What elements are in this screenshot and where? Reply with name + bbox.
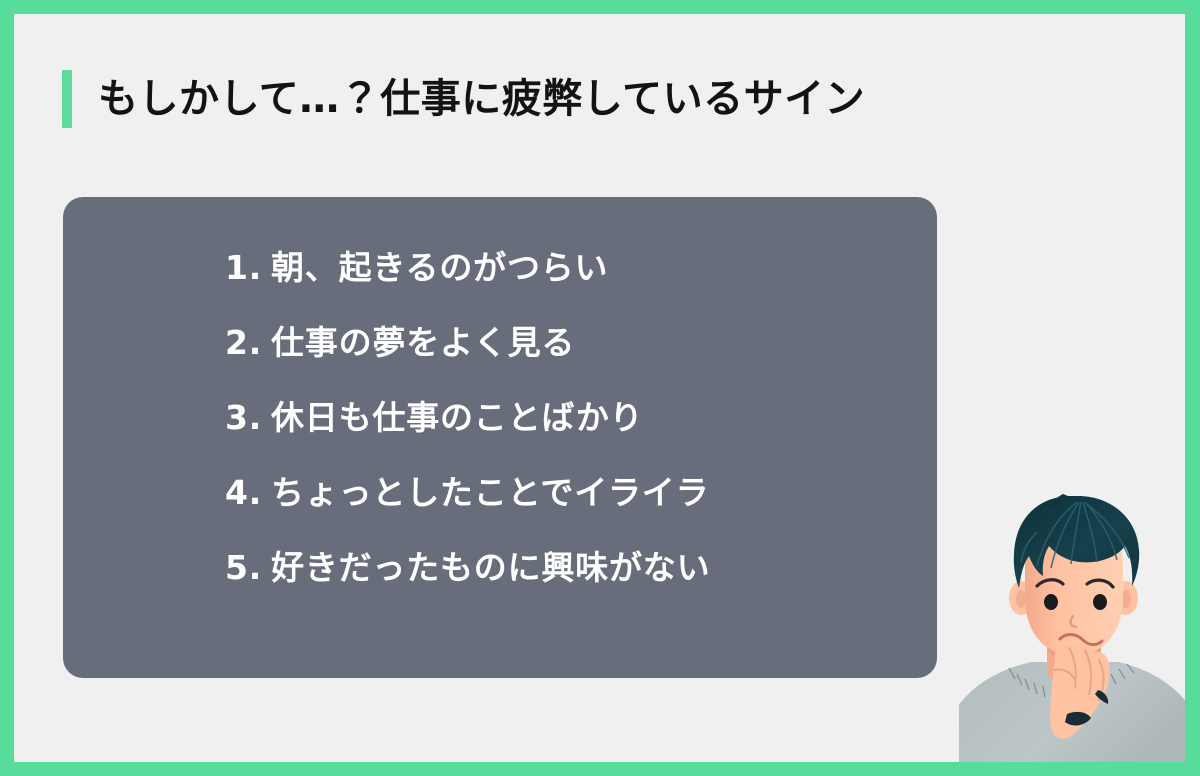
list-item: 3. 休日も仕事のことばかり [225,391,917,466]
ear-right [1114,581,1138,615]
thinking-man-illustration [959,492,1185,762]
list-item: 5. 好きだったものに興味がない [225,541,917,616]
title-accent-bar [62,70,72,128]
eye-right [1093,594,1107,610]
collar-stitches [1009,664,1134,700]
ear-right-inner [1121,590,1131,608]
neck-shadow [1047,620,1101,661]
sleeve-accent-lower [1065,712,1091,726]
sleeve-accent-upper [1095,690,1108,704]
thumb-line [1055,669,1075,680]
neck-shape [1047,620,1101,685]
list-item-number: 5. [225,548,271,587]
list-item-label: 仕事の夢をよく見る [271,316,575,364]
list-item-label: 好きだったものに興味がない [271,541,710,589]
signs-list: 1. 朝、起きるのがつらい 2. 仕事の夢をよく見る 3. 休日も仕事のことばか… [225,241,917,658]
list-item: 1. 朝、起きるのがつらい [225,241,917,316]
list-item-label: 朝、起きるのがつらい [271,241,608,289]
nose [1071,616,1076,627]
ear-left [1009,581,1033,615]
slide-frame: もしかして…？仕事に疲弊しているサイン 1. 朝、起きるのがつらい 2. 仕事の… [0,0,1200,776]
list-item-number: 4. [225,473,271,512]
list-item-label: ちょっとしたことでイライラ [271,466,709,514]
list-item-label: 休日も仕事のことばかり [271,391,643,439]
sweater-shape [959,662,1185,762]
list-item: 2. 仕事の夢をよく見る [225,316,917,391]
list-item: 4. ちょっとしたことでイライラ [225,466,917,541]
slide-header: もしかして…？仕事に疲弊しているサイン [62,68,865,130]
list-item-number: 1. [225,248,271,287]
mouth-frown [1060,635,1102,645]
face-shape [1025,508,1123,656]
eyebrow-right [1087,580,1113,587]
page-title: もしかして…？仕事に疲弊しているサイン [98,79,865,119]
list-item-number: 2. [225,323,271,362]
hair-shape [1014,496,1139,588]
hand-shape [1050,644,1109,739]
list-item-number: 3. [225,398,271,437]
slide-canvas: もしかして…？仕事に疲弊しているサイン 1. 朝、起きるのがつらい 2. 仕事の… [14,14,1185,762]
signs-card: 1. 朝、起きるのがつらい 2. 仕事の夢をよく見る 3. 休日も仕事のことばか… [63,197,937,678]
eye-left [1044,594,1058,610]
finger-lines [1069,648,1104,700]
hair-tuft [1049,494,1073,510]
eyebrow-left [1037,580,1063,586]
ear-left-inner [1016,590,1026,608]
hair-strands [1021,502,1129,568]
